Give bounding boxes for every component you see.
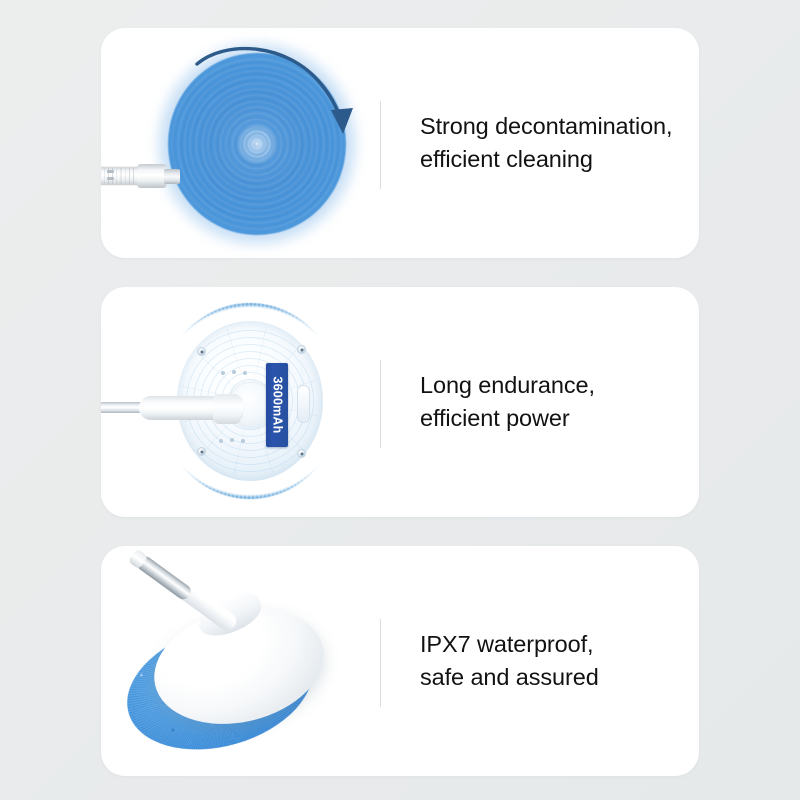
feature-title-line1: Strong decontamination, xyxy=(420,110,685,143)
side-vent xyxy=(297,385,310,423)
rotating-mop-pad-icon xyxy=(101,28,380,258)
feature-card-decontamination[interactable]: Strong decontamination, efficient cleani… xyxy=(101,28,699,258)
battery-capacity-label: 3600mAh xyxy=(270,377,284,434)
waterproof-visual xyxy=(101,546,380,776)
rotation-arrow-icon xyxy=(191,38,371,158)
mop-handle xyxy=(101,393,247,423)
feature-card-waterproof[interactable]: IPX7 waterproof, safe and assured xyxy=(101,546,699,776)
feature-title-line2: efficient power xyxy=(420,402,685,435)
feature-title-line1: IPX7 waterproof, xyxy=(420,628,685,661)
decontamination-text: Strong decontamination, efficient cleani… xyxy=(381,110,699,177)
infographic-page: Strong decontamination, efficient cleani… xyxy=(0,0,800,800)
feature-title-line1: Long endurance, xyxy=(420,369,685,402)
screw-icon xyxy=(197,447,206,456)
mop-head-underside-icon: 3600mAh xyxy=(101,287,380,517)
endurance-visual: 3600mAh xyxy=(101,287,380,517)
screw-icon xyxy=(297,345,306,354)
screw-icon xyxy=(297,449,306,458)
endurance-text: Long endurance, efficient power xyxy=(381,369,699,436)
feature-card-endurance[interactable]: 3600mAh Long endurance, efficient power xyxy=(101,287,699,517)
feature-title-line2: efficient cleaning xyxy=(420,143,685,176)
waterproof-text: IPX7 waterproof, safe and assured xyxy=(381,628,699,695)
vent-dots xyxy=(217,437,247,445)
mop-connector-handle xyxy=(101,163,186,189)
battery-capacity-badge: 3600mAh xyxy=(266,363,288,447)
screw-icon xyxy=(197,347,206,356)
vent-dots xyxy=(219,369,249,377)
mop-head-angled-icon xyxy=(101,546,380,776)
feature-title-line2: safe and assured xyxy=(420,661,685,694)
decontamination-visual xyxy=(101,28,380,258)
